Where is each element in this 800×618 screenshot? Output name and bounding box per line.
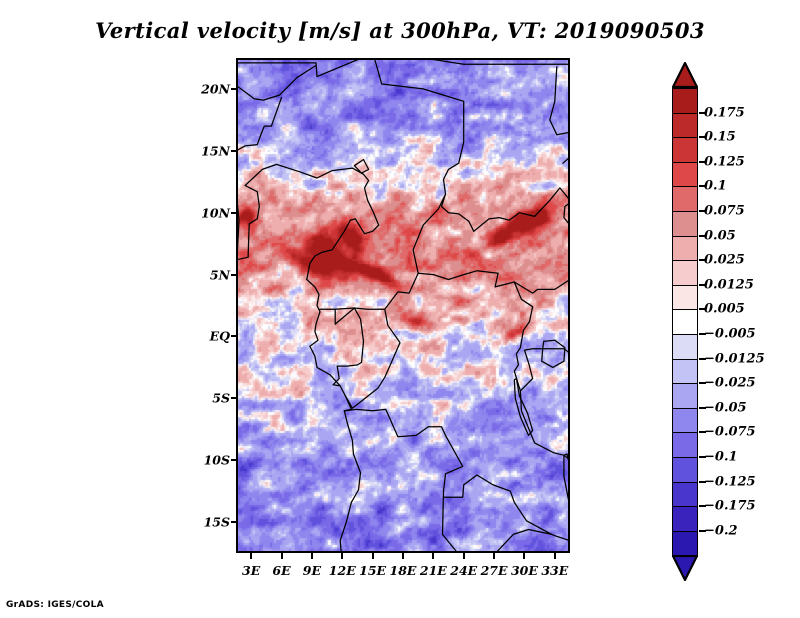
x-axis-tick-label: 15E — [359, 563, 386, 578]
colorbar-tick-label: 0.15 — [704, 130, 736, 145]
x-axis-tick-label: 18E — [390, 563, 417, 578]
map-plot-area — [236, 58, 570, 553]
colorbar-tick-label: −0.0125 — [704, 351, 765, 366]
colorbar-band[interactable] — [672, 482, 698, 508]
colorbar-tick-label: 0.005 — [704, 302, 745, 317]
y-axis-tick-label: 10S — [196, 453, 230, 468]
x-axis-tick-label: 21E — [420, 563, 447, 578]
y-axis-tick-label: EQ — [196, 329, 230, 344]
colorbar-tick-label: 0.0125 — [704, 277, 754, 292]
colorbar-band[interactable] — [672, 236, 698, 262]
x-axis-tick-label: 24E — [450, 563, 477, 578]
x-axis-tick-label: 3E — [242, 563, 260, 578]
colorbar-band[interactable] — [672, 162, 698, 188]
x-axis-tick — [311, 553, 313, 559]
colorbar-tick-label: −0.075 — [704, 425, 756, 440]
x-axis-tick-label: 27E — [481, 563, 508, 578]
y-axis-tick — [231, 212, 237, 214]
x-axis-tick — [523, 553, 525, 559]
credit-label: GrADS: IGES/COLA — [6, 600, 104, 610]
colorbar-band[interactable] — [672, 186, 698, 212]
x-axis-tick-label: 9E — [303, 563, 321, 578]
colorbar-band[interactable] — [672, 137, 698, 163]
colorbar[interactable]: 0.1750.150.1250.10.0750.050.0250.01250.0… — [672, 62, 800, 557]
y-axis-tick-label: 15S — [196, 515, 230, 530]
y-axis-tick — [231, 274, 237, 276]
colorbar-band[interactable] — [672, 408, 698, 434]
y-axis-tick — [231, 88, 237, 90]
y-axis-tick — [231, 150, 237, 152]
colorbar-tick-label: −0.05 — [704, 400, 747, 415]
colorbar-tick-label: 0.125 — [704, 154, 745, 169]
colorbar-band[interactable] — [672, 457, 698, 483]
colorbar-band[interactable] — [672, 211, 698, 237]
colorbar-tick-label: −0.125 — [704, 474, 756, 489]
vertical-velocity-field — [236, 58, 570, 553]
colorbar-cap-min — [672, 555, 698, 581]
colorbar-tick-label: 0.075 — [704, 204, 745, 219]
colorbar-band[interactable] — [672, 334, 698, 360]
y-axis-tick-label: 15N — [196, 143, 230, 158]
x-axis-tick — [341, 553, 343, 559]
colorbar-tick-label: −0.175 — [704, 499, 756, 514]
colorbar-tick-label: 0.1 — [704, 179, 727, 194]
page-title: Vertical velocity [m/s] at 300hPa, VT: 2… — [0, 18, 800, 43]
y-axis-tick-label: 5N — [196, 267, 230, 282]
x-axis-tick — [372, 553, 374, 559]
colorbar-band[interactable] — [672, 359, 698, 385]
x-axis-tick-label: 12E — [329, 563, 356, 578]
x-axis-tick — [432, 553, 434, 559]
y-axis-tick-label: 10N — [196, 205, 230, 220]
x-axis-tick — [402, 553, 404, 559]
colorbar-tick-label: −0.005 — [704, 327, 756, 342]
x-axis-tick — [281, 553, 283, 559]
x-axis-tick-label: 6E — [272, 563, 290, 578]
x-axis-tick — [250, 553, 252, 559]
colorbar-band[interactable] — [672, 113, 698, 139]
colorbar-band[interactable] — [672, 260, 698, 286]
colorbar-band[interactable] — [672, 285, 698, 311]
x-axis-tick-label: 30E — [511, 563, 538, 578]
colorbar-tick-label: 0.025 — [704, 253, 745, 268]
x-axis-tick — [493, 553, 495, 559]
x-axis-tick — [463, 553, 465, 559]
colorbar-band[interactable] — [672, 309, 698, 335]
colorbar-cap-max — [672, 62, 698, 88]
colorbar-band[interactable] — [672, 383, 698, 409]
colorbar-band[interactable] — [672, 88, 698, 114]
colorbar-band[interactable] — [672, 432, 698, 458]
colorbar-tick-label: −0.1 — [704, 450, 738, 465]
colorbar-tick-label: 0.175 — [704, 105, 745, 120]
colorbar-tick-label: −0.2 — [704, 523, 738, 538]
y-axis-tick — [231, 521, 237, 523]
y-axis-tick-label: 5S — [196, 391, 230, 406]
y-axis-tick — [231, 459, 237, 461]
y-axis-tick — [231, 397, 237, 399]
y-axis-tick — [231, 335, 237, 337]
colorbar-band[interactable] — [672, 506, 698, 532]
chart-canvas: Vertical velocity [m/s] at 300hPa, VT: 2… — [0, 0, 800, 618]
colorbar-tick-label: −0.025 — [704, 376, 756, 391]
y-axis-tick-label: 20N — [196, 81, 230, 96]
x-axis-tick-label: 33E — [541, 563, 568, 578]
colorbar-tick-label: 0.05 — [704, 228, 736, 243]
x-axis-tick — [554, 553, 556, 559]
colorbar-band[interactable] — [672, 531, 698, 557]
